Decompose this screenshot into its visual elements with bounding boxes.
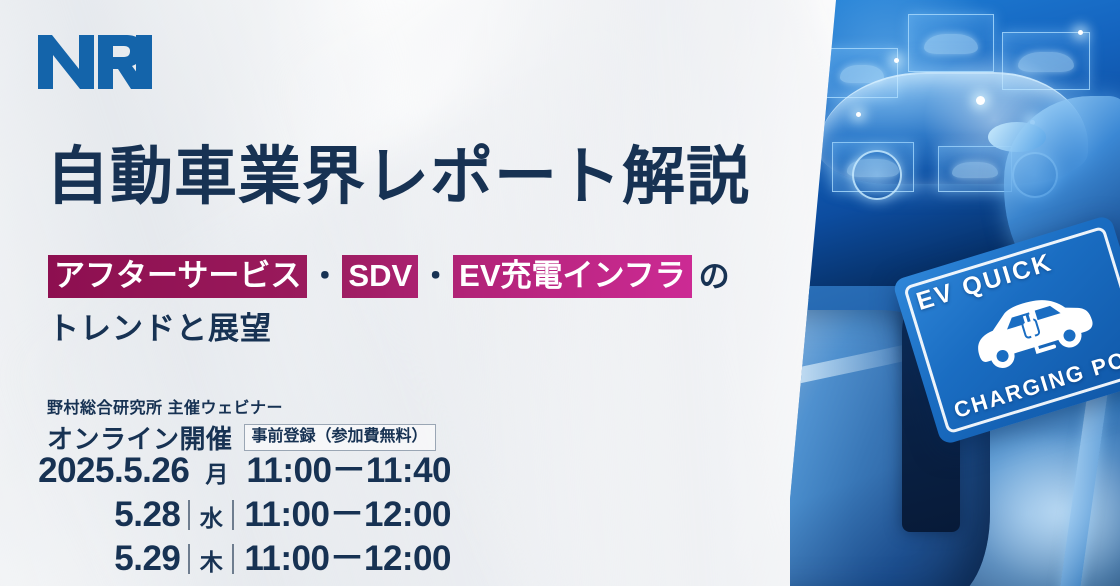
session-weekday: 月 (205, 463, 228, 486)
session-date: 2025.5.26 (38, 453, 189, 488)
page-title: 自動車業界レポート解説 (46, 146, 750, 209)
subtitle-highlight-row: アフターサービス ・ SDV ・ EV充電インフラ の (48, 255, 730, 298)
webinar-banner: EV QUICK CHARGING POINT 自動車業 (0, 0, 1120, 586)
highlight-aftersales: アフターサービス (48, 255, 307, 298)
subtitle-separator: ・ (307, 261, 342, 292)
session-time: 11:00－11:40 (246, 453, 451, 488)
host-line: 野村総合研究所 主催ウェビナー (47, 394, 283, 418)
session-weekday: 水 (198, 507, 224, 530)
content-area: 自動車業界レポート解説 アフターサービス ・ SDV ・ EV充電インフラ の … (0, 0, 1120, 586)
divider (232, 500, 234, 530)
session-list: 2025.5.26 月 11:00－11:40 5.28 水 11:00－12:… (47, 452, 451, 584)
highlight-ev-infra: EV充電インフラ (453, 255, 691, 298)
divider (188, 500, 190, 530)
subtitle-tail: の (692, 261, 730, 292)
divider (188, 544, 190, 574)
subtitle-separator: ・ (418, 261, 453, 292)
session-time: 11:00－12:00 (244, 541, 451, 576)
session-date: 5.28 (114, 497, 180, 532)
session-row: 5.29 木 11:00－12:00 (47, 540, 451, 576)
highlight-sdv: SDV (342, 255, 418, 298)
divider (232, 544, 234, 574)
session-date: 5.29 (114, 541, 180, 576)
session-time: 11:00－12:00 (244, 497, 451, 532)
subtitle-line2: トレンドと展望 (48, 303, 272, 348)
nri-logo (36, 33, 154, 91)
session-row: 5.28 水 11:00－12:00 (47, 496, 451, 532)
registration-badge: 事前登録（参加費無料） (244, 424, 436, 451)
session-row: 2025.5.26 月 11:00－11:40 (47, 452, 451, 488)
session-weekday: 木 (198, 551, 224, 574)
